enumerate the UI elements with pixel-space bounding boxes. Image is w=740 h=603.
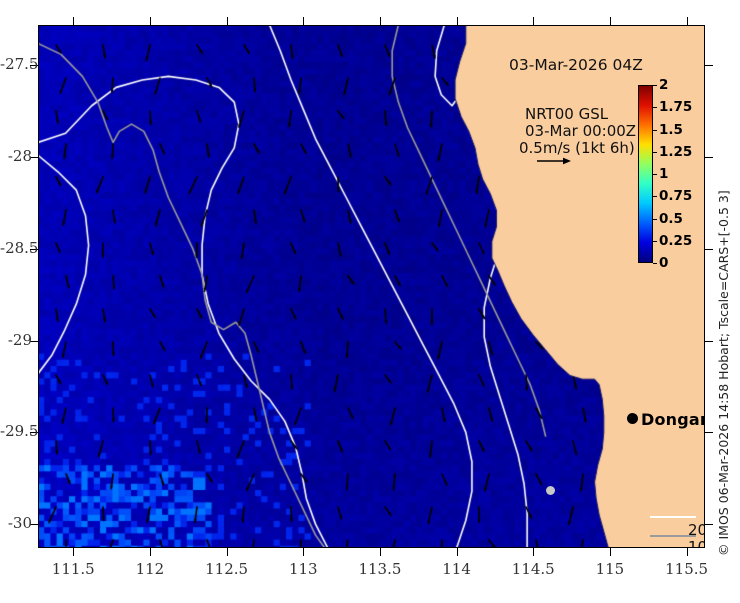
x-tick bbox=[150, 548, 151, 556]
x-tick bbox=[150, 17, 151, 25]
date-stamp: 03-Mar-2026 04Z bbox=[509, 56, 643, 74]
y-tick-label: -27.5 bbox=[0, 55, 32, 73]
y-tick-label: -29.5 bbox=[0, 422, 32, 440]
y-tick bbox=[705, 157, 713, 158]
x-tick-label: 112.5 bbox=[192, 560, 262, 578]
y-tick-label: -30 bbox=[0, 514, 32, 532]
x-tick bbox=[687, 17, 688, 25]
source-model-label: NRT00 GSL bbox=[525, 105, 608, 123]
x-tick bbox=[687, 548, 688, 556]
map-plot-area: 03-Mar-2026 04Z NRT00 GSL 03-Mar 00:00Z … bbox=[38, 25, 705, 548]
colorbar-tick-label: 0.75 bbox=[659, 188, 692, 204]
depth-key-line-1000m bbox=[650, 535, 696, 537]
colorbar-tick-label: 0.25 bbox=[659, 233, 692, 249]
x-tick-label: 115 bbox=[575, 560, 645, 578]
x-tick bbox=[227, 17, 228, 25]
y-tick-label: -28.5 bbox=[0, 239, 32, 257]
x-tick-label: 114 bbox=[422, 560, 492, 578]
source-time-label: 03-Mar 00:00Z bbox=[525, 122, 636, 140]
colorbar-tick bbox=[653, 196, 657, 197]
colorbar-tick bbox=[653, 263, 657, 264]
colorbar-tick-label: 1.5 bbox=[659, 122, 683, 138]
x-tick bbox=[533, 548, 534, 556]
colorbar-tick-label: 2 bbox=[659, 77, 668, 93]
x-tick bbox=[227, 548, 228, 556]
colorbar-tick bbox=[653, 85, 657, 86]
colorbar-tick-label: 0 bbox=[659, 255, 668, 271]
y-tick bbox=[705, 65, 713, 66]
station-marker bbox=[546, 486, 555, 495]
x-tick-label: 113 bbox=[268, 560, 338, 578]
x-tick bbox=[610, 17, 611, 25]
x-tick bbox=[73, 548, 74, 556]
x-tick bbox=[303, 548, 304, 556]
y-tick bbox=[705, 341, 713, 342]
colorbar-tick-label: 1.25 bbox=[659, 144, 692, 160]
sst-age-heatmap bbox=[38, 25, 705, 548]
colorbar-tick-label: 1.75 bbox=[659, 99, 692, 115]
x-tick-label: 111.5 bbox=[38, 560, 108, 578]
colorbar-tick bbox=[653, 241, 657, 242]
x-tick bbox=[380, 548, 381, 556]
x-tick bbox=[73, 17, 74, 25]
colorbar-tick bbox=[653, 130, 657, 131]
colorbar-gradient bbox=[639, 86, 652, 262]
x-tick bbox=[380, 17, 381, 25]
city-marker-dongara bbox=[627, 413, 638, 424]
x-tick bbox=[610, 548, 611, 556]
x-tick bbox=[303, 17, 304, 25]
copyright-text: © IMOS 06-Mar-2026 14:58 Hobart; Tscale=… bbox=[716, 190, 731, 556]
x-tick bbox=[457, 17, 458, 25]
x-tick bbox=[457, 548, 458, 556]
colorbar-tick bbox=[653, 174, 657, 175]
x-tick-label: 115.5 bbox=[652, 560, 722, 578]
colorbar-tick-label: 0.5 bbox=[659, 211, 683, 227]
colorbar-tick bbox=[653, 219, 657, 220]
y-tick-label: -29 bbox=[0, 331, 32, 349]
depth-key-line-200m bbox=[650, 516, 696, 518]
colorbar-tick bbox=[653, 152, 657, 153]
reference-arrow-icon bbox=[537, 156, 571, 166]
x-tick-label: 112 bbox=[115, 560, 185, 578]
depth-key-1000m: 1000m bbox=[688, 539, 705, 548]
colorbar-tick-label: 1 bbox=[659, 166, 668, 182]
x-tick-label: 114.5 bbox=[498, 560, 568, 578]
y-tick bbox=[705, 524, 713, 525]
x-tick bbox=[533, 17, 534, 25]
city-label-dongara: Dongara bbox=[641, 410, 705, 429]
colorbar bbox=[638, 85, 653, 263]
y-tick-label: -28 bbox=[0, 147, 32, 165]
colorbar-tick bbox=[653, 107, 657, 108]
y-tick bbox=[705, 432, 713, 433]
velocity-scale-label: 0.5m/s (1kt 6h) bbox=[519, 139, 635, 157]
x-tick-label: 113.5 bbox=[345, 560, 415, 578]
y-tick bbox=[705, 249, 713, 250]
